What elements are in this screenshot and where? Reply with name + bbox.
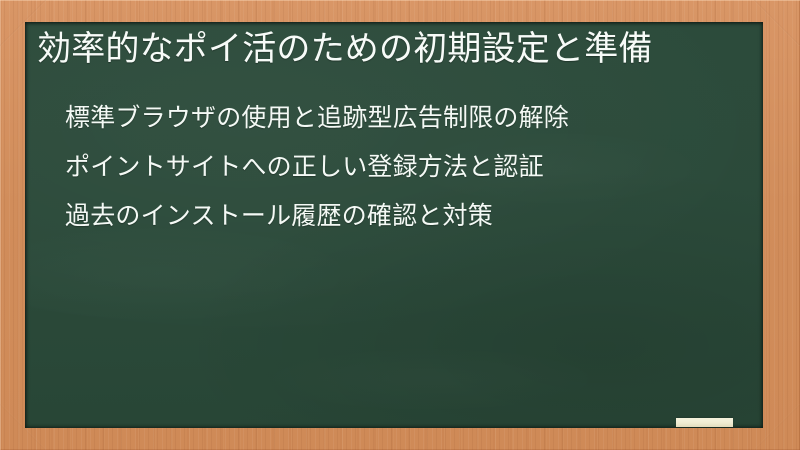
bullet-list: 標準ブラウザの使用と追跡型広告制限の解除 ポイントサイトへの正しい登録方法と認証… bbox=[35, 101, 753, 232]
chalkboard-slide: 効率的なポイ活のための初期設定と準備 標準ブラウザの使用と追跡型広告制限の解除 … bbox=[0, 0, 800, 450]
list-item: 標準ブラウザの使用と追跡型広告制限の解除 bbox=[65, 101, 753, 134]
list-item: 過去のインストール履歴の確認と対策 bbox=[65, 199, 753, 232]
chalkboard-surface: 効率的なポイ活のための初期設定と準備 標準ブラウザの使用と追跡型広告制限の解除 … bbox=[25, 22, 763, 428]
board-content: 効率的なポイ活のための初期設定と準備 標準ブラウザの使用と追跡型広告制限の解除 … bbox=[25, 22, 763, 428]
slide-title: 効率的なポイ活のための初期設定と準備 bbox=[35, 28, 739, 71]
list-item: ポイントサイトへの正しい登録方法と認証 bbox=[65, 150, 753, 183]
chalk-stick-icon bbox=[676, 418, 733, 427]
